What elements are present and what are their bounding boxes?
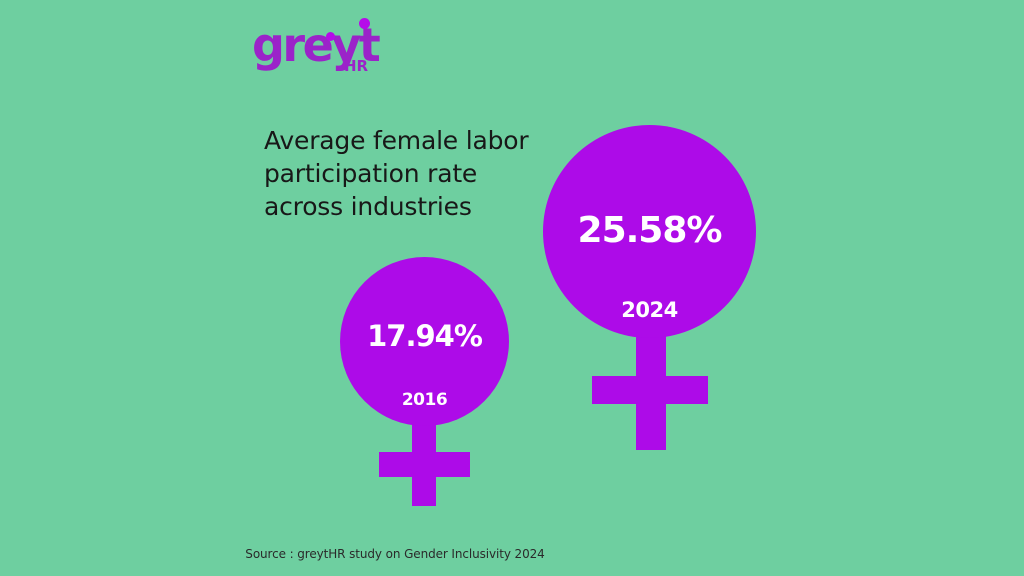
year-label-2024: 2024 — [543, 300, 756, 321]
female-symbol-2024: 25.58% 2024 — [543, 125, 756, 450]
female-symbol-crossbar — [379, 452, 470, 477]
value-label-2016: 17.94% — [340, 322, 509, 351]
female-symbol-2016: 17.94% 2016 — [340, 257, 509, 506]
page-title-line-1: Average female labor — [264, 124, 564, 157]
infographic-canvas: greyt HR Average female labor participat… — [0, 0, 1024, 576]
page-title: Average female labor participation rate … — [264, 124, 564, 223]
logo-dot-icon — [359, 18, 370, 29]
page-title-line-3: across industries — [264, 190, 564, 223]
year-label-2016: 2016 — [340, 392, 509, 409]
logo-hr-suffix: HR — [344, 59, 368, 74]
logo-dot-icon — [326, 32, 335, 41]
female-symbol-crossbar — [592, 376, 708, 404]
value-label-2024: 25.58% — [543, 213, 756, 249]
greyt-hr-logo: greyt HR — [252, 16, 402, 80]
source-credit: Source : greytHR study on Gender Inclusi… — [0, 547, 1024, 561]
page-title-line-2: participation rate — [264, 157, 564, 190]
